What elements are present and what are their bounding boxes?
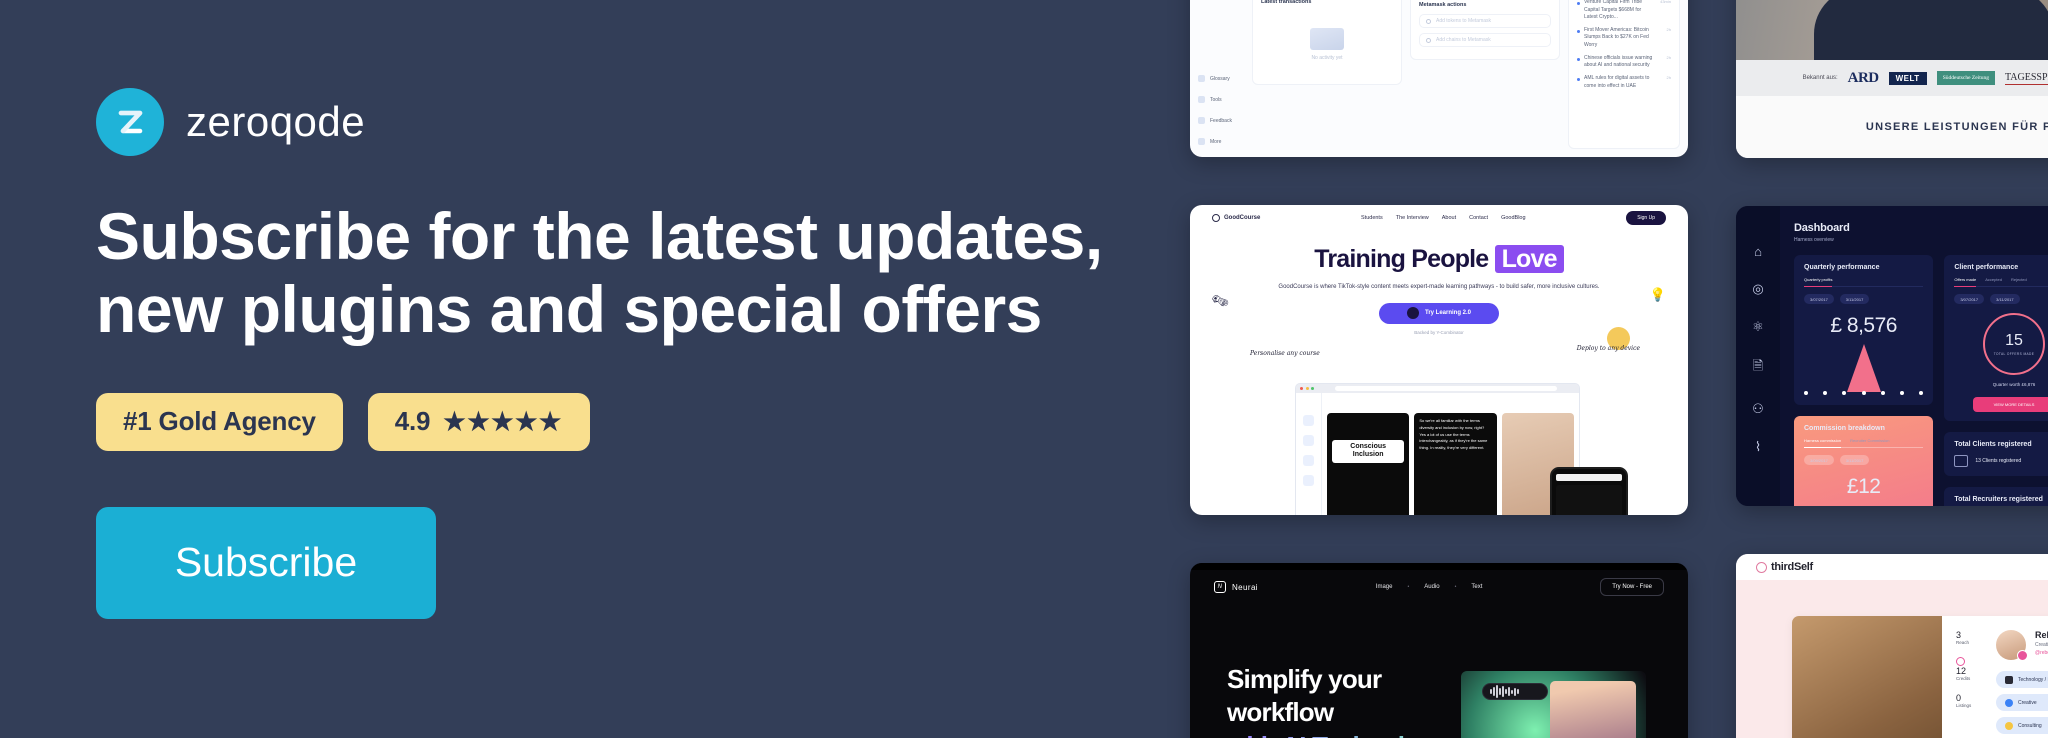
briefcase-icon bbox=[1954, 455, 1968, 467]
dot-separator-icon: • bbox=[1407, 584, 1409, 590]
try-learning-button[interactable]: Try Learning 2.0 bbox=[1379, 303, 1499, 324]
bullet-icon bbox=[1577, 30, 1580, 33]
subscribe-button[interactable]: Subscribe bbox=[96, 507, 436, 619]
neurai-navbar: N Neurai Image• Audio• Text Try Now - Fr… bbox=[1190, 570, 1688, 604]
tab-offers-made[interactable]: Offers made bbox=[1954, 277, 1976, 287]
try-now-button[interactable]: Try Now - Free bbox=[1600, 578, 1664, 596]
sidebar-item-label: Feedback bbox=[1210, 118, 1232, 124]
dot-separator-icon: • bbox=[1455, 584, 1457, 590]
tagesspiegel-logo: TAGESSPIEGEL bbox=[2005, 72, 2048, 85]
hero-panel: zeroqode Subscribe for the latest update… bbox=[0, 0, 1190, 738]
date-to[interactable]: 3/11/2017 bbox=[1990, 294, 2020, 304]
feedback-icon bbox=[1198, 117, 1205, 124]
add-icon[interactable] bbox=[2017, 650, 2028, 661]
image-icon[interactable] bbox=[1303, 455, 1314, 466]
neurai-nav-links: Image• Audio• Text bbox=[1376, 584, 1483, 590]
minimize-icon bbox=[1306, 387, 1309, 390]
phone-address-bar bbox=[1556, 474, 1622, 481]
showcase-card-thirdself[interactable]: thirdSelf ⚡ 1,352 users currently viewin… bbox=[1736, 554, 2048, 738]
gold-agency-label: #1 Gold Agency bbox=[123, 406, 316, 437]
slide-title: Conscious Inclusion bbox=[1332, 440, 1404, 463]
panel-title: Metamask actions bbox=[1419, 2, 1551, 8]
nav-link[interactable]: Students bbox=[1361, 215, 1383, 221]
add-tokens-input[interactable]: Add tokens to Metamask bbox=[1419, 14, 1551, 28]
search-icon bbox=[1426, 38, 1431, 43]
sparkline-chart bbox=[1804, 342, 1923, 396]
status-badge-rating: 4.9 ★★★★★ bbox=[368, 393, 590, 451]
browser-chrome bbox=[1296, 384, 1579, 393]
slide-canvas: Conscious Inclusion So we're all familia… bbox=[1322, 393, 1579, 515]
card-title: Total Clients registered bbox=[1954, 441, 2048, 448]
audio-waveform-icon bbox=[1482, 683, 1548, 700]
welt-logo: WELT bbox=[1889, 72, 1927, 85]
sidebar-item-label: Tools bbox=[1210, 97, 1222, 103]
showcase-card-crypto-dashboard[interactable]: Glossary Tools Feedback More Matic$0.57⌄… bbox=[1190, 0, 1688, 157]
tab-rejected[interactable]: Rejected bbox=[2011, 277, 2027, 282]
maximize-icon bbox=[1311, 387, 1314, 390]
dashboard-title: Dashboard bbox=[1794, 222, 2048, 234]
list-item[interactable]: Feedback bbox=[1198, 117, 1244, 124]
chart-icon[interactable]: ⌇ bbox=[1755, 439, 1761, 455]
technology-icon bbox=[2005, 676, 2013, 684]
panel-title: Latest transactions bbox=[1261, 0, 1393, 5]
credits-icon bbox=[1956, 657, 1965, 666]
showcase-card-harness-dashboard[interactable]: ⌂ ◎ ⚛ 🗎 ⚇ ⌇ Dashboard Harness overview Q… bbox=[1736, 206, 2048, 506]
card-title: Client performance bbox=[1954, 264, 2048, 271]
empty-state-label: No activity yet bbox=[1311, 55, 1342, 61]
tag-consulting[interactable]: Consulting bbox=[1996, 717, 2048, 734]
lightbulb-doodle-icon: 💡 bbox=[1650, 287, 1666, 303]
ring-label: TOTAL OFFERS MADE bbox=[1994, 352, 2035, 356]
showcase-gallery: Glossary Tools Feedback More Matic$0.57⌄… bbox=[1190, 0, 2048, 738]
section-caption: UNSERE LEISTUNGEN FÜR PFLEGEB bbox=[1736, 96, 2048, 158]
showcase-card-neurai[interactable]: N Neurai Image• Audio• Text Try Now - Fr… bbox=[1190, 563, 1688, 738]
address-bar[interactable] bbox=[1335, 386, 1558, 391]
card-client-performance: Client performance Offers made Accepted … bbox=[1944, 255, 2048, 421]
gallery-column-left: Glossary Tools Feedback More Matic$0.57⌄… bbox=[1190, 0, 1688, 738]
phone-mockup bbox=[1550, 467, 1628, 515]
nav-link-audio[interactable]: Audio bbox=[1424, 584, 1439, 590]
chart-axis bbox=[1804, 390, 1923, 396]
ai-icon[interactable] bbox=[1303, 475, 1314, 486]
date-to[interactable]: 3/11/2017 bbox=[1840, 455, 1870, 465]
dashboard-subtitle: Harness overview bbox=[1794, 237, 2048, 243]
press-logo-bar: Bekannt aus: ARD WELT Süddeutsche Zeitun… bbox=[1736, 60, 2048, 96]
dashboard-sidebar: ⌂ ◎ ⚛ 🗎 ⚇ ⌇ bbox=[1736, 206, 1780, 506]
target-icon[interactable]: ◎ bbox=[1752, 281, 1763, 297]
crown-icon bbox=[1407, 307, 1419, 319]
glossary-icon bbox=[1198, 75, 1205, 82]
sidebar-item-label: Glossary bbox=[1210, 76, 1230, 82]
page-title: Subscribe for the latest updates, new pl… bbox=[96, 200, 1106, 347]
nav-link[interactable]: About bbox=[1442, 215, 1456, 221]
star-rating-icon: ★★★★★ bbox=[443, 407, 563, 437]
crypto-sidebar: Glossary Tools Feedback More bbox=[1190, 0, 1252, 157]
tab-accepted[interactable]: Accepted bbox=[1985, 277, 2002, 282]
headline-line-1: Subscribe for the latest updates, bbox=[96, 200, 1106, 273]
goodcourse-navbar: GoodCourse Students The Interview About … bbox=[1190, 205, 1688, 231]
thirdself-logo[interactable]: thirdSelf bbox=[1756, 561, 1813, 573]
profile-role: Creative Consultant bbox=[2035, 642, 2048, 648]
printer-illustration-icon bbox=[1310, 28, 1344, 50]
showcase-card-goodcourse[interactable]: GoodCourse Students The Interview About … bbox=[1190, 205, 1688, 515]
badge-row: #1 Gold Agency 4.9 ★★★★★ bbox=[96, 393, 1190, 451]
date-from[interactable]: 3/07/2017 bbox=[1954, 294, 1984, 304]
headline-line-2: new plugins and special offers bbox=[96, 273, 1106, 346]
empty-state: No activity yet bbox=[1261, 11, 1393, 77]
sz-logo: Süddeutsche Zeitung bbox=[1937, 71, 1995, 85]
sign-up-button[interactable]: Sign Up bbox=[1626, 211, 1666, 225]
circle-logo-icon bbox=[1756, 562, 1767, 573]
press-label: Bekannt aus: bbox=[1803, 75, 1838, 81]
list-item[interactable]: Tools bbox=[1198, 96, 1244, 103]
brand-name: zeroqode bbox=[186, 98, 365, 146]
neurai-topbar bbox=[1190, 563, 1688, 570]
card-commission-breakdown: Commission breakdown Harness commission … bbox=[1794, 416, 1933, 506]
stat-listings: 0 Listings bbox=[1956, 693, 1986, 709]
headline-line-2: workflow bbox=[1227, 696, 1448, 729]
avatar bbox=[1996, 630, 2026, 660]
stat-reach: 3 Reach bbox=[1956, 630, 1986, 646]
hero-photo bbox=[1736, 0, 2048, 60]
ard-logo: ARD bbox=[1848, 70, 1879, 87]
ring-value: 15 bbox=[2005, 332, 2023, 350]
showcase-card-pflege[interactable]: Bekannt aus: ARD WELT Süddeutsche Zeitun… bbox=[1736, 0, 2048, 158]
home-icon[interactable]: ⌂ bbox=[1754, 244, 1762, 259]
tag-creative[interactable]: Creative bbox=[1996, 694, 2048, 711]
bullet-icon bbox=[1577, 78, 1580, 81]
nav-link-image[interactable]: Image bbox=[1376, 584, 1393, 590]
profile-cover-photo bbox=[1792, 616, 1942, 738]
person-torso bbox=[1814, 0, 2048, 60]
crypto-news-panel: Top crypto news Here are the Top 5 ChatG… bbox=[1568, 0, 1680, 149]
add-chains-input[interactable]: Add chains to Metamask bbox=[1419, 33, 1551, 47]
card-quarterly-performance: Quarterly performance Quarterly profits … bbox=[1794, 255, 1933, 405]
nav-link-text[interactable]: Text bbox=[1471, 584, 1482, 590]
tools-icon[interactable] bbox=[1303, 415, 1314, 426]
card-total-clients: Total Clients registered 13 Clients regi… bbox=[1944, 432, 2048, 476]
annotation-personalise: Personalise any course bbox=[1250, 350, 1320, 358]
goodcourse-subtitle: GoodCourse is where TikTok-style content… bbox=[1190, 282, 1688, 293]
headline-line-3: with AI Technology bbox=[1227, 730, 1448, 738]
network-icon[interactable]: ⚛ bbox=[1752, 319, 1764, 335]
tab-recruiter-commission[interactable]: Recruiter Commission bbox=[1850, 438, 1889, 443]
neurai-portrait bbox=[1550, 681, 1636, 738]
tab-quarterly-profits[interactable]: Quarterly profits bbox=[1804, 277, 1832, 287]
card-title: Quarterly performance bbox=[1804, 264, 1923, 271]
card-total-recruiters: Total Recruiters registered 9 Recruiters… bbox=[1944, 487, 2048, 506]
consulting-icon bbox=[2005, 722, 2013, 730]
annotation-deploy: Deploy to any device bbox=[1577, 345, 1640, 353]
thirdself-navbar: thirdSelf ⚡ 1,352 users currently viewin… bbox=[1736, 554, 2048, 580]
headline-line-1: Simplify your bbox=[1227, 663, 1448, 696]
list-item[interactable]: Glossary bbox=[1198, 75, 1244, 82]
creative-icon bbox=[2005, 699, 2013, 707]
search-icon bbox=[1426, 19, 1431, 24]
brand-logo[interactable]: zeroqode bbox=[96, 88, 1190, 156]
people-icon[interactable]: ⚇ bbox=[1752, 401, 1764, 417]
more-icon bbox=[1198, 138, 1205, 145]
neurai-mark-icon: N bbox=[1214, 581, 1226, 593]
status-badge-gold-agency: #1 Gold Agency bbox=[96, 393, 343, 451]
close-icon bbox=[1300, 387, 1303, 390]
list-item[interactable]: First Mover Americas: Bitcoin Slumps Bac… bbox=[1577, 24, 1671, 52]
card-title: Total Recruiters registered bbox=[1954, 496, 2048, 503]
profile-name: Rebecca Mix bbox=[2035, 630, 2048, 640]
profile-handle[interactable]: @rebecca_84 bbox=[2035, 650, 2048, 656]
list-item[interactable]: AML rules for digital assets to come int… bbox=[1577, 72, 1671, 93]
media-icon[interactable] bbox=[1303, 435, 1314, 446]
circle-logo-icon bbox=[1212, 214, 1220, 222]
goodcourse-logo[interactable]: GoodCourse bbox=[1212, 214, 1260, 222]
offers-ring-chart: 15 TOTAL OFFERS MADE bbox=[1983, 313, 2045, 375]
editor-sidebar bbox=[1296, 393, 1322, 515]
tag-technology[interactable]: Technology / IT bbox=[1996, 671, 2048, 688]
neurai-headline: Simplify your workflow with AI Technolog… bbox=[1227, 663, 1448, 738]
profile-stats: 3 Reach 12 Credits 0 Listings bbox=[1956, 630, 1986, 738]
headline-highlight: Love bbox=[1495, 245, 1564, 273]
bullet-icon bbox=[1577, 58, 1580, 61]
card-title: Commission breakdown bbox=[1804, 425, 1923, 432]
sidebar-item-label: More bbox=[1210, 139, 1221, 145]
zeroqode-z-logo-icon bbox=[96, 88, 164, 156]
date-to[interactable]: 3/11/2017 bbox=[1840, 294, 1870, 304]
nav-link[interactable]: The Interview bbox=[1396, 215, 1429, 221]
tab-harness-commission[interactable]: Harness commission bbox=[1804, 438, 1841, 448]
list-item[interactable]: More bbox=[1198, 138, 1244, 145]
list-item[interactable]: Venture Capital Firm Tribe Capital Targe… bbox=[1577, 0, 1671, 24]
gallery-column-right: Bekannt aus: ARD WELT Süddeutsche Zeitun… bbox=[1736, 0, 2048, 738]
slide-text: So we're all familiar with the terms div… bbox=[1414, 413, 1496, 515]
phone-slide bbox=[1556, 485, 1622, 515]
date-from[interactable]: 3/09/2017 bbox=[1804, 455, 1834, 465]
chart-peak bbox=[1847, 344, 1881, 392]
commission-value: £12 bbox=[1804, 475, 1923, 499]
nav-link[interactable]: Contact bbox=[1469, 215, 1488, 221]
browser-mockup: Conscious Inclusion So we're all familia… bbox=[1295, 383, 1580, 515]
tools-icon bbox=[1198, 96, 1205, 103]
slide-cover: Conscious Inclusion bbox=[1327, 413, 1409, 515]
metamask-actions-panel: Metamask actions Add tokens to Metamask … bbox=[1410, 0, 1560, 60]
goodcourse-nav-links: Students The Interview About Contact Goo… bbox=[1361, 215, 1526, 221]
briefcase-icon[interactable]: 🗎 bbox=[1753, 357, 1763, 379]
neurai-logo[interactable]: N Neurai bbox=[1214, 581, 1258, 593]
stat-credits: 12 Credits bbox=[1956, 657, 1986, 682]
nav-link[interactable]: GoodBlog bbox=[1501, 215, 1525, 221]
quarter-worth: Quarter worth £6,876 bbox=[1954, 382, 2048, 389]
rating-value: 4.9 bbox=[395, 406, 431, 437]
date-from[interactable]: 3/07/2017 bbox=[1804, 294, 1834, 304]
latest-transactions-panel: Latest transactions No activity yet bbox=[1252, 0, 1402, 85]
goodcourse-headline: Training People Love bbox=[1190, 245, 1688, 274]
view-more-details-button[interactable]: VIEW MORE DETAILS bbox=[1973, 397, 2048, 412]
quarterly-value: £ 8,576 bbox=[1804, 314, 1923, 338]
profile-panel: 3 Reach 12 Credits 0 Listings bbox=[1792, 616, 2048, 738]
bullet-icon bbox=[1577, 2, 1580, 5]
list-item[interactable]: Chinese officials issue warning about AI… bbox=[1577, 52, 1671, 73]
